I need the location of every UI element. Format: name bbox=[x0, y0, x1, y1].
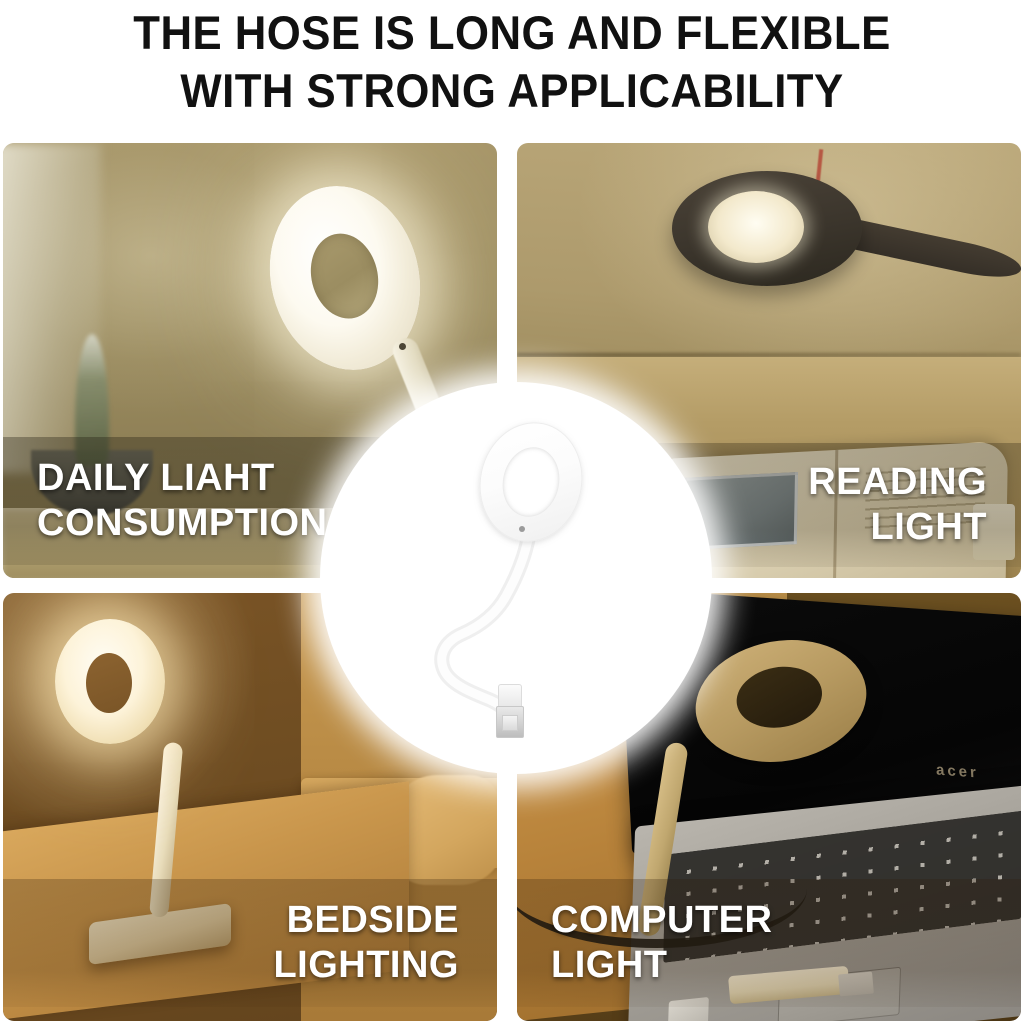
headline-line-1: THE HOSE IS LONG AND FLEXIBLE bbox=[36, 4, 988, 62]
caption-computer-light: COMPUTER LIGHT bbox=[517, 879, 1021, 1007]
caption-line-1: READING bbox=[808, 460, 987, 505]
ring-lamp-head-icon bbox=[672, 171, 862, 286]
ring-lamp-head-icon bbox=[55, 619, 165, 744]
laptop-brand-logo: acer bbox=[936, 761, 980, 781]
headline-line-2: WITH STRONG APPLICABILITY bbox=[36, 62, 988, 120]
caption-line-2: LIGHT bbox=[551, 943, 1021, 988]
caption-bedside-lighting: BEDSIDE LIGHTING bbox=[3, 879, 497, 1007]
lamp-gooseneck bbox=[834, 216, 1021, 284]
hero-product-circle bbox=[320, 382, 712, 774]
caption-line-1: COMPUTER bbox=[551, 898, 1021, 943]
headline: THE HOSE IS LONG AND FLEXIBLE WITH STRON… bbox=[0, 0, 1024, 128]
ring-lamp-aperture bbox=[732, 660, 827, 734]
caption-line-1: BEDSIDE bbox=[287, 898, 459, 943]
caption-line-2: LIGHTING bbox=[273, 943, 459, 988]
hero-power-button-icon bbox=[519, 526, 525, 532]
power-button-icon bbox=[399, 343, 406, 350]
hero-usb-lamp bbox=[320, 382, 712, 774]
hero-usb-contacts bbox=[502, 715, 518, 731]
caption-line-2: LIGHT bbox=[871, 505, 987, 550]
hero-ring-aperture bbox=[496, 442, 565, 522]
ring-lamp-aperture bbox=[708, 191, 804, 263]
hero-usb-connector-icon bbox=[496, 706, 524, 738]
